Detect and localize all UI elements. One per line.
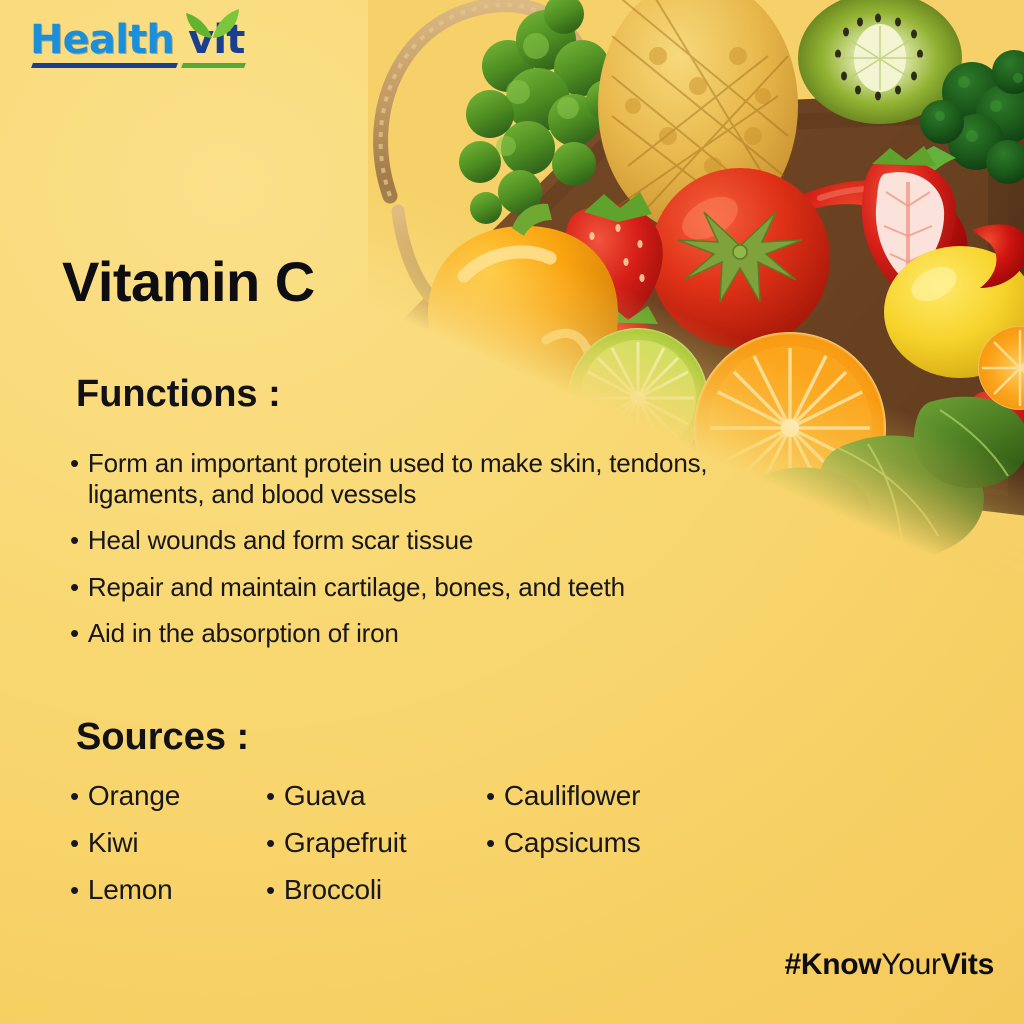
hashtag-part-know: #Know bbox=[784, 948, 881, 981]
list-item-label: Capsicums bbox=[504, 829, 641, 857]
list-item-label: Heal wounds and form scar tissue bbox=[88, 525, 473, 556]
list-item: • Aid in the absorption of iron bbox=[70, 618, 810, 649]
list-item-label: Form an important protein used to make s… bbox=[88, 448, 810, 510]
sources-heading: Sources : bbox=[76, 718, 249, 756]
list-item: • Grapefruit bbox=[266, 829, 486, 857]
logo-underline-blue bbox=[31, 63, 178, 68]
list-item: • Broccoli bbox=[266, 876, 486, 904]
list-item-label: Kiwi bbox=[88, 829, 139, 857]
bullet-icon: • bbox=[486, 783, 495, 809]
list-item-label: Broccoli bbox=[284, 876, 382, 904]
functions-list: • Form an important protein used to make… bbox=[70, 448, 810, 664]
bullet-icon: • bbox=[70, 877, 79, 903]
list-item-label: Orange bbox=[88, 782, 180, 810]
infographic-poster: Health vit Vitamin C Functions : • Form … bbox=[0, 0, 1024, 1024]
list-item-label: Repair and maintain cartilage, bones, an… bbox=[88, 572, 625, 603]
bullet-icon: • bbox=[70, 618, 79, 649]
list-item: • Guava bbox=[266, 782, 486, 810]
functions-heading: Functions : bbox=[76, 375, 281, 413]
sources-list: • Orange • Kiwi • Lemon • Guava • Grapef… bbox=[70, 782, 770, 923]
list-item: • Capsicums bbox=[486, 829, 726, 857]
bullet-icon: • bbox=[70, 572, 79, 603]
hashtag-footer: #KnowYourVits bbox=[784, 948, 994, 982]
list-item: • Heal wounds and form scar tissue bbox=[70, 525, 810, 556]
brand-logo[interactable]: Health vit bbox=[30, 20, 260, 82]
bullet-icon: • bbox=[70, 783, 79, 809]
hashtag-part-your: Your bbox=[881, 948, 940, 981]
list-item: • Orange bbox=[70, 782, 266, 810]
logo-wordmark: Health vit bbox=[30, 20, 260, 60]
bullet-icon: • bbox=[70, 448, 79, 479]
bullet-icon: • bbox=[266, 830, 275, 856]
list-item: • Repair and maintain cartilage, bones, … bbox=[70, 572, 810, 603]
list-item: • Kiwi bbox=[70, 829, 266, 857]
bullet-icon: • bbox=[70, 525, 79, 556]
lime-slice bbox=[568, 328, 708, 468]
bullet-icon: • bbox=[486, 830, 495, 856]
bullet-icon: • bbox=[266, 783, 275, 809]
list-item: • Cauliflower bbox=[486, 782, 726, 810]
sources-column: • Orange • Kiwi • Lemon bbox=[70, 782, 266, 923]
list-item: • Lemon bbox=[70, 876, 266, 904]
logo-text-health: Health bbox=[30, 20, 174, 60]
list-item-label: Cauliflower bbox=[504, 782, 640, 810]
page-title: Vitamin C bbox=[62, 254, 315, 310]
sources-column: • Cauliflower • Capsicums bbox=[486, 782, 726, 923]
bullet-icon: • bbox=[266, 877, 275, 903]
sources-column: • Guava • Grapefruit • Broccoli bbox=[266, 782, 486, 923]
list-item-label: Lemon bbox=[88, 876, 173, 904]
hashtag-part-vits: Vits bbox=[941, 948, 994, 981]
list-item: • Form an important protein used to make… bbox=[70, 448, 810, 510]
list-item-label: Aid in the absorption of iron bbox=[88, 618, 399, 649]
bullet-icon: • bbox=[70, 830, 79, 856]
list-item-label: Guava bbox=[284, 782, 366, 810]
logo-underline bbox=[32, 63, 245, 69]
list-item-label: Grapefruit bbox=[284, 829, 407, 857]
tomato bbox=[650, 168, 830, 348]
two-leaves-icon bbox=[182, 8, 240, 40]
logo-underline-green bbox=[181, 63, 246, 68]
